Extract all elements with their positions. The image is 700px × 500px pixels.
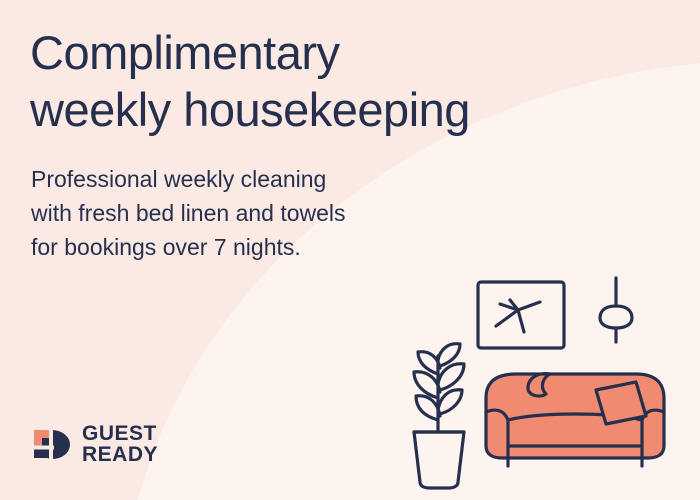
subtext: Professional weekly cleaning with fresh … [31, 162, 461, 264]
living-room-illustration [400, 270, 690, 500]
promo-banner: Complimentary weekly housekeeping Profes… [0, 0, 700, 500]
potted-plant-icon [414, 344, 464, 488]
floor-lamp-icon [600, 278, 632, 342]
banner-content: Complimentary weekly housekeeping Profes… [0, 0, 700, 500]
logo-wordmark: GUEST READY [82, 423, 158, 465]
brand-logo: GUEST READY [32, 423, 158, 465]
guestready-logo-mark-icon [32, 424, 72, 464]
headline: Complimentary weekly housekeeping [30, 24, 630, 138]
framed-picture-icon [478, 282, 564, 348]
sofa-icon [486, 374, 664, 466]
